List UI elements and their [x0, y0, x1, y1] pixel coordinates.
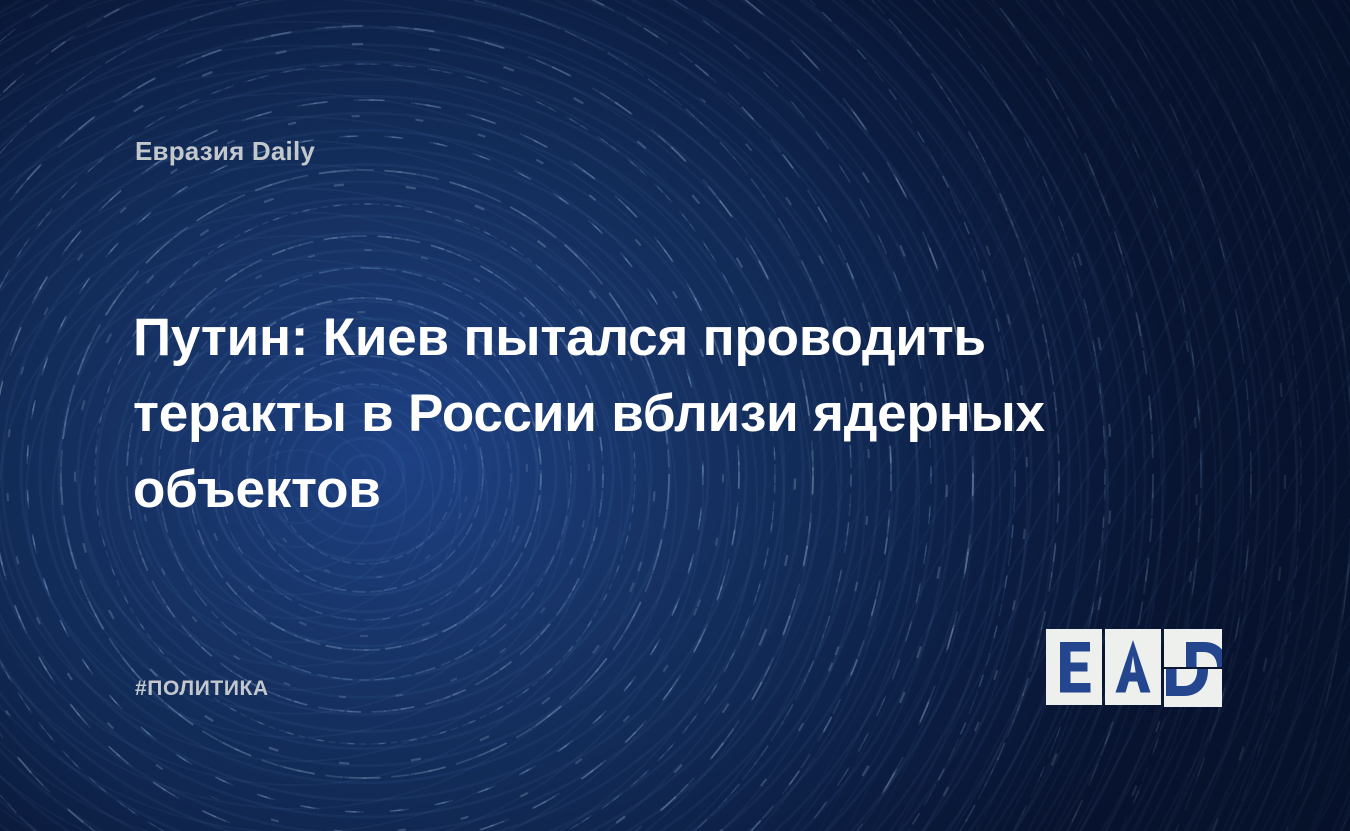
eadaily-logo[interactable]	[1046, 629, 1226, 712]
logo-tile-d-top	[1164, 629, 1222, 667]
logo-tile-e	[1046, 629, 1102, 705]
news-card: Евразия Daily Путин: Киев пытался провод…	[0, 0, 1350, 831]
logo-tile-d-bottom	[1164, 669, 1222, 707]
logo-tile-d-split	[1164, 629, 1222, 707]
headline-title: Путин: Киев пытался проводить теракты в …	[133, 300, 1093, 528]
card-content: Евразия Daily Путин: Киев пытался провод…	[0, 0, 1350, 831]
category-tag[interactable]: #ПОЛИТИКА	[135, 677, 269, 701]
logo-tile-a	[1105, 629, 1161, 705]
brand-name: Евразия Daily	[135, 136, 315, 167]
